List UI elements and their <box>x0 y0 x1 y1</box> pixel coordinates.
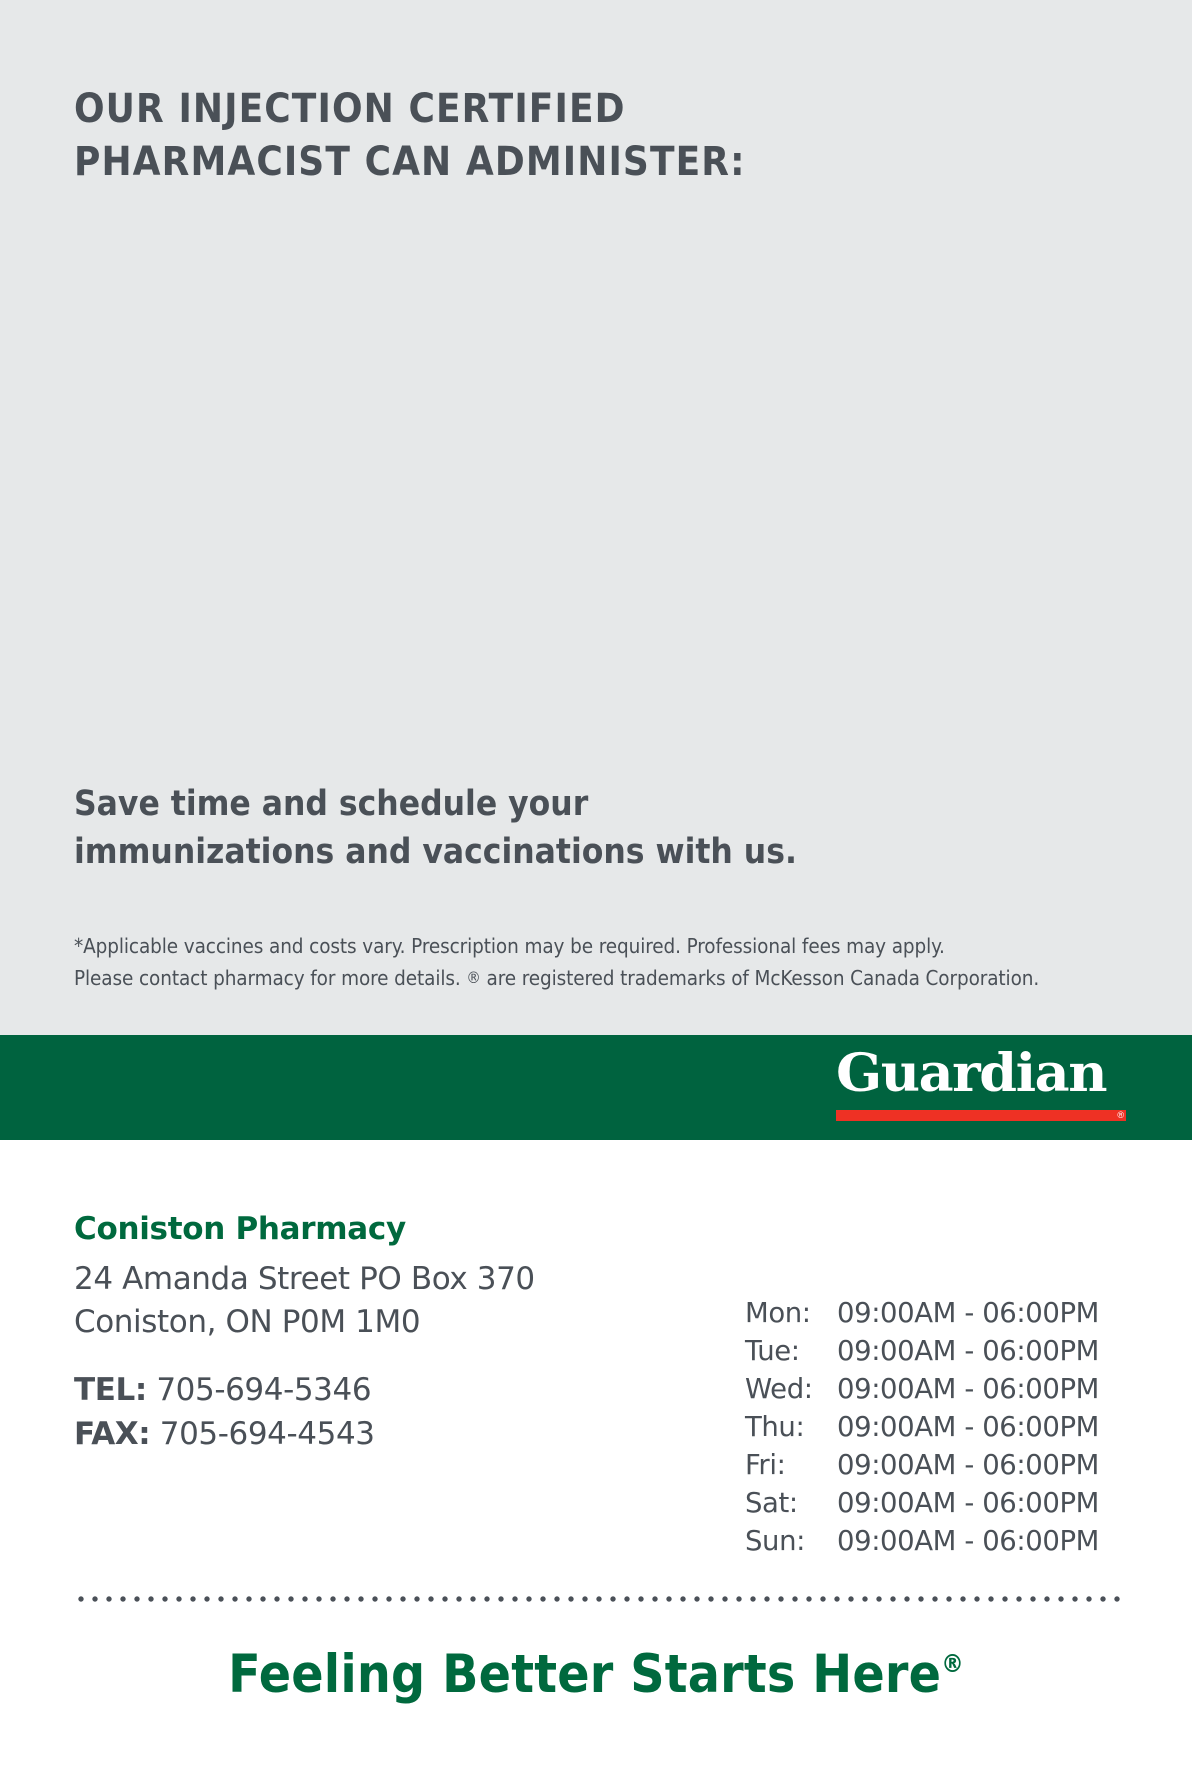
tagline-text: Feeling Better Starts Here <box>228 1644 941 1705</box>
page-title: OUR INJECTION CERTIFIED PHARMACIST CAN A… <box>74 83 974 189</box>
guardian-registered-icon: ® <box>1117 1110 1124 1121</box>
subheadline: Save time and schedule your immunization… <box>74 780 974 877</box>
subheadline-line-2: immunizations and vaccinations with us. <box>74 828 974 876</box>
pharmacy-poster: OUR INJECTION CERTIFIED PHARMACIST CAN A… <box>0 0 1192 1785</box>
hours-row: Thu: 09:00AM - 06:00PM <box>745 1409 1125 1447</box>
hours-day-label: Sat: <box>745 1485 837 1523</box>
store-fax-value: 705-694-4543 <box>160 1416 375 1452</box>
guardian-logo: Guardian ® <box>836 1048 1126 1128</box>
hours-day-label: Fri: <box>745 1447 837 1485</box>
hours-day-label: Tue: <box>745 1333 837 1371</box>
hours-day-label: Thu: <box>745 1409 837 1447</box>
hours-time-value: 09:00AM - 06:00PM <box>837 1371 1125 1409</box>
hours-time-value: 09:00AM - 06:00PM <box>837 1485 1125 1523</box>
hours-row: Mon: 09:00AM - 06:00PM <box>745 1295 1125 1333</box>
headline-line-1: OUR INJECTION CERTIFIED <box>74 86 626 132</box>
subheadline-line-1: Save time and schedule your <box>74 784 588 824</box>
guardian-logo-rule <box>836 1110 1126 1121</box>
hours-day-label: Mon: <box>745 1295 837 1333</box>
disclaimer-text: *Applicable vaccines and costs vary. Pre… <box>74 930 1124 995</box>
guardian-wordmark: Guardian <box>836 1048 1106 1100</box>
hours-row: Sun: 09:00AM - 06:00PM <box>745 1523 1125 1561</box>
tagline: Feeling Better Starts Here® <box>0 1648 1192 1701</box>
hours-row: Sat: 09:00AM - 06:00PM <box>745 1485 1125 1523</box>
tagline-registered-icon: ® <box>941 1649 964 1678</box>
store-hours-table: Mon: 09:00AM - 06:00PM Tue: 09:00AM - 06… <box>745 1295 1125 1561</box>
top-promo-panel: OUR INJECTION CERTIFIED PHARMACIST CAN A… <box>0 0 1192 1035</box>
disclaimer-line-2: Please contact pharmacy for more details… <box>74 962 1124 994</box>
hours-time-value: 09:00AM - 06:00PM <box>837 1447 1125 1485</box>
disclaimer-line-1: *Applicable vaccines and costs vary. Pre… <box>74 934 945 958</box>
store-address-line-2: Coniston, ON P0M 1M0 <box>74 1301 674 1344</box>
headline-line-2: PHARMACIST CAN ADMINISTER: <box>74 136 974 189</box>
store-address: 24 Amanda Street PO Box 370 Coniston, ON… <box>74 1258 674 1344</box>
store-telephone-value[interactable]: 705-694-5346 <box>156 1372 371 1408</box>
dotted-divider <box>74 1595 1122 1603</box>
hours-day-label: Wed: <box>745 1371 837 1409</box>
store-info-block: Coniston Pharmacy 24 Amanda Street PO Bo… <box>74 1210 674 1456</box>
hours-row: Wed: 09:00AM - 06:00PM <box>745 1371 1125 1409</box>
hours-time-value: 09:00AM - 06:00PM <box>837 1295 1125 1333</box>
hours-row: Tue: 09:00AM - 06:00PM <box>745 1333 1125 1371</box>
store-address-line-1: 24 Amanda Street PO Box 370 <box>74 1261 535 1297</box>
hours-row: Fri: 09:00AM - 06:00PM <box>745 1447 1125 1485</box>
store-name: Coniston Pharmacy <box>74 1210 674 1249</box>
store-telephone-label: TEL: <box>74 1372 147 1408</box>
registered-trademark-icon: ® <box>466 968 480 987</box>
disclaimer-line-2-pre: Please contact pharmacy for more details… <box>74 966 466 990</box>
brand-band: Guardian ® <box>0 1035 1192 1140</box>
hours-day-label: Sun: <box>745 1523 837 1561</box>
store-telephone-row: TEL: 705-694-5346 <box>74 1369 674 1412</box>
hours-time-value: 09:00AM - 06:00PM <box>837 1409 1125 1447</box>
store-fax-label: FAX: <box>74 1416 150 1452</box>
store-contact: TEL: 705-694-5346 FAX: 705-694-4543 <box>74 1369 674 1456</box>
hours-time-value: 09:00AM - 06:00PM <box>837 1523 1125 1561</box>
hours-time-value: 09:00AM - 06:00PM <box>837 1333 1125 1371</box>
store-fax-row: FAX: 705-694-4543 <box>74 1413 674 1456</box>
disclaimer-line-2-post: are registered trademarks of McKesson Ca… <box>481 966 1039 990</box>
